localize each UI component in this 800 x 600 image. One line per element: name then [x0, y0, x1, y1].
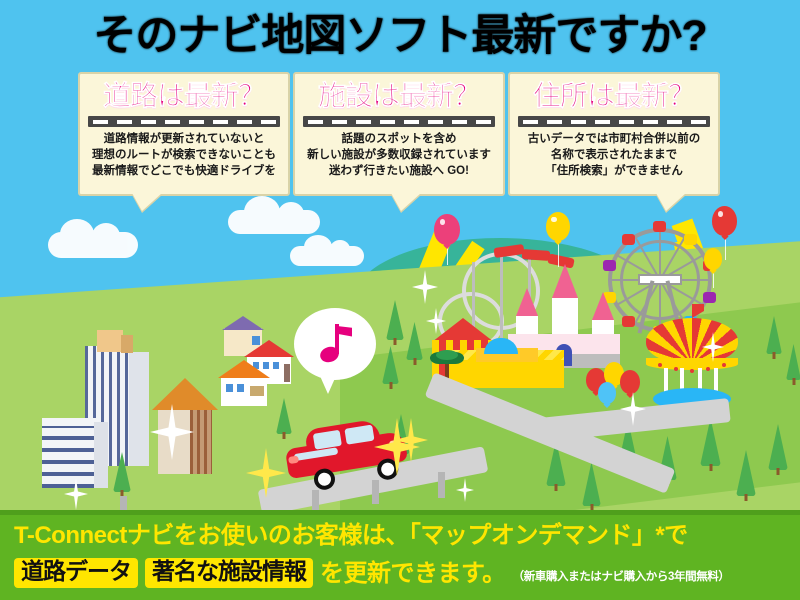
ferris-sign — [638, 274, 682, 285]
poster: そのナビ地図ソフト最新ですか? 道路は最新？ 道路情報が更新されていないと 理想… — [0, 0, 800, 600]
tree-trunk — [792, 378, 795, 385]
card-roads-body: 道路情報が更新されていないと 理想のルートが検索できないことも 最新情報でどこで… — [92, 132, 276, 180]
turret-roof — [592, 292, 614, 320]
ferris-cabin — [703, 292, 716, 303]
tree-crown — [276, 398, 292, 434]
card-address-line-1: 古いデータでは市町村合併以前の — [528, 132, 701, 148]
turret-roof — [552, 264, 578, 298]
card-roads[interactable]: 道路は最新？ 道路情報が更新されていないと 理想のルートが検索できないことも 最… — [78, 72, 290, 196]
bubble-tail — [320, 376, 336, 394]
tree-trunk — [394, 338, 397, 345]
balloon-pink — [434, 214, 460, 245]
promo-banner: T-Connectナビをお使いのお客様は、「マップオンデマンド」*で 道路データ… — [0, 510, 800, 600]
carousel-light — [722, 363, 726, 367]
music-note-icon — [320, 326, 350, 362]
tree-trunk — [413, 358, 416, 365]
sparkle-yellow — [246, 448, 286, 498]
cloud-2 — [228, 210, 320, 234]
tree — [406, 322, 423, 360]
tree — [113, 452, 131, 492]
tree-trunk — [773, 352, 776, 359]
road-divider-icon — [88, 116, 280, 127]
tree-crown — [766, 316, 782, 354]
tree-trunk — [555, 484, 558, 491]
card-roads-line-3: 最新情報でどこでも快適ドライブを — [92, 164, 276, 180]
note-flag — [337, 326, 352, 341]
road-pillar — [372, 480, 379, 504]
card-roads-tail — [132, 193, 162, 211]
sparkle — [620, 392, 646, 426]
card-address-tail — [656, 193, 686, 211]
tree-crown — [768, 424, 788, 470]
ferris-cabin — [684, 234, 697, 245]
cloud-3 — [290, 246, 364, 266]
balloon-cluster-blue — [598, 382, 616, 404]
card-facilities-line-1: 話題のスポットを含め — [307, 132, 491, 148]
card-address-title: 住所は最新？ — [533, 81, 695, 110]
page-title: そのナビ地図ソフト最新ですか? — [93, 15, 706, 58]
music-note-bubble — [294, 308, 376, 380]
tree-crown — [700, 418, 721, 466]
card-facilities-tail — [391, 193, 421, 211]
road-pillar — [438, 472, 445, 498]
sparkle — [150, 404, 194, 460]
tree — [382, 346, 399, 384]
feature-cards: 道路は最新？ 道路情報が更新されていないと 理想のルートが検索できないことも 最… — [0, 72, 800, 212]
tree — [582, 462, 601, 506]
coaster-car-2 — [522, 249, 551, 261]
chip-road-data: 道路データ — [14, 558, 138, 587]
banner-line-2: 道路データ 著名な施設情報 を更新できます。 （新車購入またはナビ購入から3年間… — [14, 553, 786, 588]
tree — [766, 316, 782, 354]
banner-footnote: （新車購入またはナビ購入から3年間無料） — [513, 568, 730, 588]
house-orange-roof — [218, 360, 270, 406]
road-pillar — [312, 490, 319, 512]
card-address[interactable]: 住所は最新？ 古いデータでは市町村合併以前の 名称で表示されたままで 「住所検索… — [508, 72, 720, 196]
card-address-line-2: 名称で表示されたままで — [528, 148, 701, 164]
card-facilities-line-2: 新しい施設が多数収録されています — [307, 148, 491, 164]
card-roads-title: 道路は最新？ — [103, 81, 265, 110]
tree-crown — [786, 344, 800, 380]
balloon-string — [447, 245, 448, 265]
tree — [786, 344, 800, 380]
sparkle — [456, 478, 474, 502]
tree-trunk — [709, 464, 712, 471]
ferris-spoke — [659, 228, 661, 280]
chip-facility-info: 著名な施設情報 — [145, 558, 313, 587]
sparkle-yellow — [374, 418, 420, 476]
balloon-string — [725, 236, 726, 260]
sparkle — [426, 308, 446, 334]
card-facilities[interactable]: 施設は最新？ 話題のスポットを含め 新しい施設が多数収録されています 迷わず行き… — [293, 72, 505, 196]
banner-line-2-tail: を更新できます。 — [320, 553, 506, 588]
headline-band: そのナビ地図ソフト最新ですか? — [0, 0, 800, 72]
balloon-string — [713, 270, 714, 288]
banner-line-1: T-Connectナビをお使いのお客様は、「マップオンデマンド」*で — [14, 522, 786, 550]
carousel-light — [674, 367, 678, 371]
balloon-yellow — [546, 212, 570, 241]
cloud-1 — [48, 232, 138, 258]
balloon-yellow-2 — [704, 248, 722, 270]
tree-trunk — [777, 468, 780, 475]
card-facilities-title: 施設は最新？ — [318, 81, 480, 110]
tree-crown — [406, 322, 423, 360]
carousel-light — [706, 367, 710, 371]
tree — [700, 418, 721, 466]
tree — [768, 424, 788, 470]
card-roads-line-1: 道路情報が更新されていないと — [92, 132, 276, 148]
card-address-line-3: 「住所検索」ができません — [528, 164, 701, 180]
card-facilities-body: 話題のスポットを含め 新しい施設が多数収録されています 迷わず行きたい施設へ G… — [307, 132, 491, 180]
tree — [736, 450, 756, 496]
ferris-cabin — [653, 221, 666, 232]
carousel-light — [658, 363, 662, 367]
tree-crown — [382, 346, 399, 384]
road-divider-icon — [303, 116, 495, 127]
carousel-light — [690, 369, 694, 373]
tree-trunk — [745, 494, 748, 501]
tree-crown — [736, 450, 756, 496]
tree-crown — [113, 452, 131, 492]
tree-trunk — [389, 382, 392, 389]
tree-crown — [386, 300, 404, 340]
turret-roof — [516, 288, 538, 316]
balloon-highlight — [440, 219, 446, 225]
sparkle — [64, 478, 88, 510]
card-address-body: 古いデータでは市町村合併以前の 名称で表示されたままで 「住所検索」ができません — [528, 132, 701, 180]
tree — [276, 398, 292, 434]
road-divider-icon — [518, 116, 710, 127]
ferris-cabin — [622, 234, 635, 245]
carousel-flag — [692, 304, 704, 318]
balloon-string — [558, 241, 559, 267]
sparkle — [702, 332, 724, 362]
card-facilities-line-3: 迷わず行きたい施設へ GO! — [307, 164, 491, 180]
tree-crown — [582, 462, 601, 506]
balloon-highlight — [551, 217, 556, 223]
balloon-cluster-red-2 — [620, 370, 640, 394]
card-roads-line-2: 理想のルートが検索できないことも — [92, 148, 276, 164]
tree — [386, 300, 404, 340]
sparkle — [412, 270, 438, 304]
